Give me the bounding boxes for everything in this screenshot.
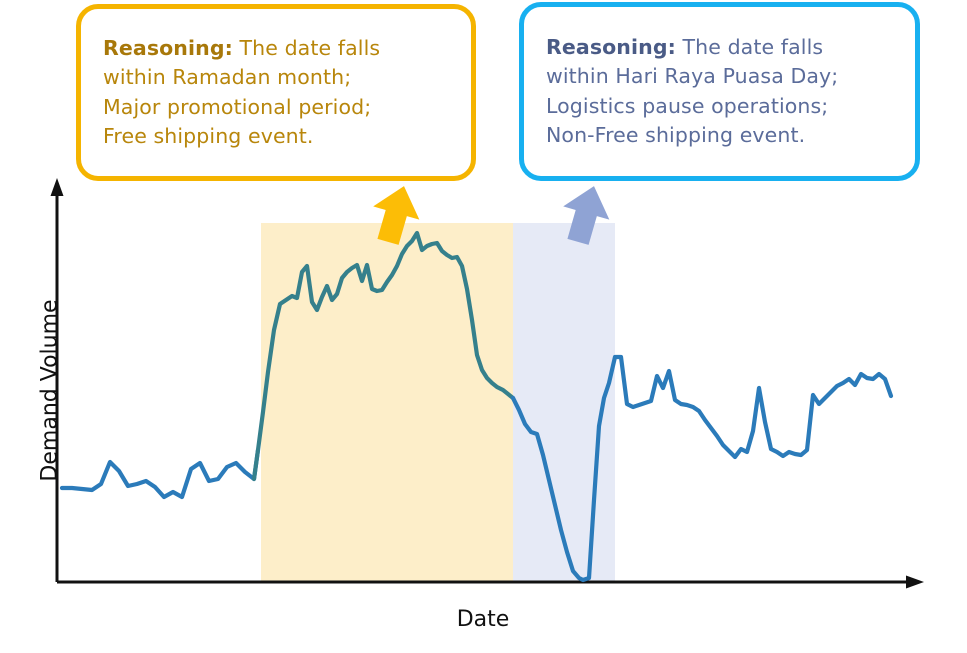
y-axis-title: Demand Volume (38, 281, 63, 501)
arrow-ramadan-icon (366, 183, 426, 245)
shaded-region-hari-raya (513, 223, 615, 582)
figure-root: Demand Volume Date Reasoning: The date f… (0, 0, 967, 653)
callout-box-ramadan: Reasoning: The date falls within Ramadan… (76, 4, 476, 181)
callout-hari-raya-lead: Reasoning: (546, 35, 676, 59)
callout-ramadan-text: Reasoning: The date falls within Ramadan… (81, 34, 380, 150)
callout-hari-raya-text: Reasoning: The date falls within Hari Ra… (524, 33, 838, 149)
shaded-region-ramadan (261, 223, 513, 582)
series-segment-left (62, 450, 258, 497)
arrow-hari-raya-icon (556, 183, 616, 245)
x-axis-title: Date (383, 607, 583, 632)
callout-ramadan-lead: Reasoning: (103, 36, 233, 60)
callout-box-hari-raya: Reasoning: The date falls within Hari Ra… (519, 2, 920, 181)
